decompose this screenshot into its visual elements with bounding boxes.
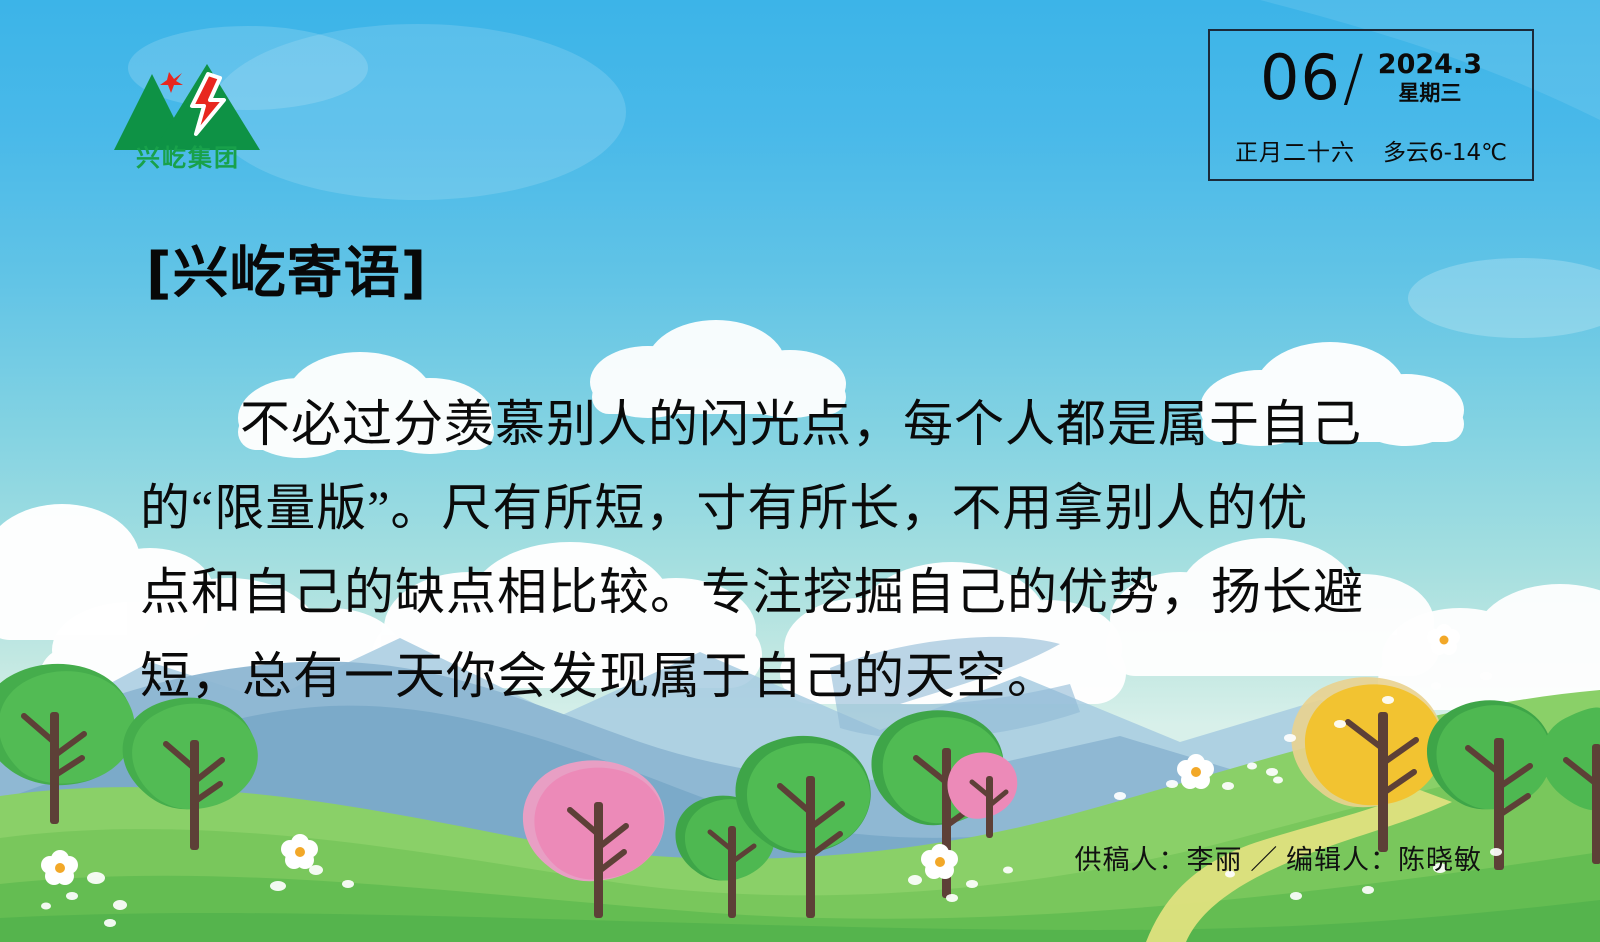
weather-info: 多云6-14℃ <box>1383 133 1507 167</box>
date-year-month: 2024.3 <box>1378 49 1482 80</box>
date-weekday: 星期三 <box>1378 80 1482 107</box>
date-card-top-row: 06 / 2024.3 星期三 <box>1210 39 1532 131</box>
poster-canvas: 兴屹集团 06 / 2024.3 星期三 正月二十六 多云6-14℃ [兴屹寄语… <box>0 0 1600 942</box>
flower <box>41 624 1460 885</box>
mountain-lightning-logo-icon <box>108 48 268 156</box>
grass-speckles <box>41 672 1502 927</box>
date-day-number: 06 <box>1260 47 1341 109</box>
date-slash-separator: / <box>1343 47 1364 109</box>
date-card: 06 / 2024.3 星期三 正月二十六 多云6-14℃ <box>1208 29 1534 181</box>
red-star-icon <box>160 72 183 93</box>
company-logo[interactable]: 兴屹集团 <box>108 48 268 188</box>
date-card-bottom-row: 正月二十六 多云6-14℃ <box>1210 133 1532 167</box>
logo-company-name: 兴屹集团 <box>108 146 268 170</box>
date-card-year-week: 2024.3 星期三 <box>1378 49 1482 107</box>
lunar-date: 正月二十六 <box>1235 133 1355 167</box>
